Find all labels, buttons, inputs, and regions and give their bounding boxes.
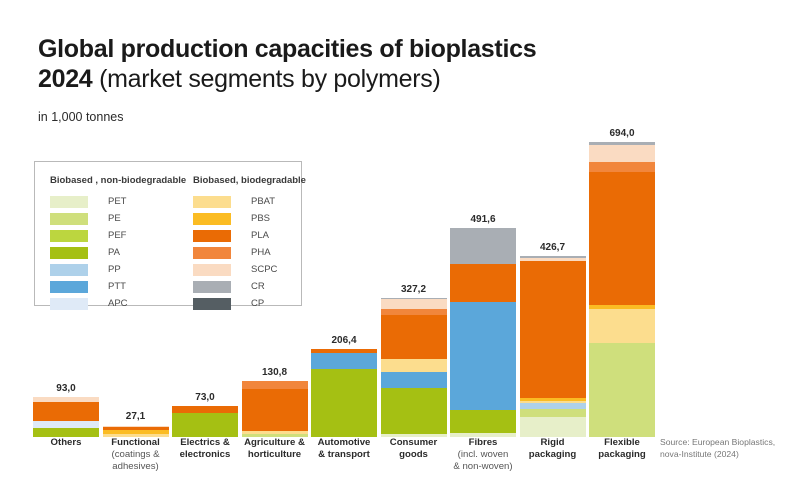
bar-value-label: 206,4 — [311, 335, 377, 346]
bar-segment-pe[interactable] — [589, 343, 655, 437]
bar-segment-pla[interactable] — [589, 172, 655, 305]
bar-value-label: 426,7 — [520, 242, 586, 253]
bar-segment-pet[interactable] — [520, 417, 586, 437]
bar-stack — [520, 256, 586, 437]
x-axis-label-main: Flexiblepackaging — [584, 437, 660, 461]
bar-stack — [33, 397, 99, 437]
bar-value-label: 130,8 — [242, 367, 308, 378]
x-axis-label: Electrics &electronics — [167, 437, 243, 461]
bar-stack — [242, 381, 308, 437]
bar-group[interactable]: 206,4 — [311, 331, 377, 437]
bar-stack — [381, 298, 447, 437]
bar-segment-ptt[interactable] — [450, 302, 516, 410]
bar-segment-pha[interactable] — [589, 162, 655, 172]
bar-group[interactable]: 27,1 — [103, 407, 169, 437]
x-axis-label-main: Others — [28, 437, 104, 449]
bar-segment-pa[interactable] — [172, 413, 238, 437]
x-axis-label: Rigidpackaging — [515, 437, 591, 461]
x-axis-label: Functional(coatings &adhesives) — [98, 437, 174, 473]
bar-group[interactable]: 130,8 — [242, 363, 308, 437]
bar-value-label: 694,0 — [589, 128, 655, 139]
x-axis-label-main: Fibres — [445, 437, 521, 449]
bar-segment-apc[interactable] — [33, 421, 99, 428]
x-axis-label: Fibres(incl. woven& non-woven) — [445, 437, 521, 473]
bar-value-label: 491,6 — [450, 214, 516, 225]
bar-stack — [450, 228, 516, 437]
bar-segment-pa[interactable] — [450, 410, 516, 433]
bar-segment-pa[interactable] — [33, 428, 99, 437]
bar-group[interactable]: 426,7 — [520, 238, 586, 437]
chart-plot-area: 93,027,173,0130,8206,4327,2491,6426,7694… — [0, 0, 800, 437]
bar-segment-cr[interactable] — [450, 228, 516, 264]
x-axis-label-main: Agriculture &horticulture — [237, 437, 313, 461]
bar-segment-scpc[interactable] — [381, 299, 447, 309]
bar-stack — [172, 406, 238, 437]
source-line-1: Source: European Bioplastics, — [660, 437, 795, 449]
x-axis-label-main: Consumergoods — [376, 437, 452, 461]
x-axis-label-sub: (incl. woven& non-woven) — [445, 449, 521, 473]
x-axis-label-main: Rigidpackaging — [515, 437, 591, 461]
bar-group[interactable]: 694,0 — [589, 124, 655, 437]
source-line-2: nova-Institute (2024) — [660, 449, 795, 461]
x-axis-label-main: Automotive& transport — [306, 437, 382, 461]
bar-segment-pla[interactable] — [242, 389, 308, 432]
bar-value-label: 73,0 — [172, 392, 238, 403]
x-axis-label-main: Electrics &electronics — [167, 437, 243, 461]
bar-segment-pla[interactable] — [450, 264, 516, 302]
bar-group[interactable]: 73,0 — [172, 388, 238, 437]
bar-group[interactable]: 491,6 — [450, 210, 516, 437]
bar-segment-pla[interactable] — [172, 406, 238, 413]
x-axis-label-main: Functional — [98, 437, 174, 449]
x-axis-label-sub: (coatings &adhesives) — [98, 449, 174, 473]
bar-segment-pa[interactable] — [381, 388, 447, 434]
bar-segment-ptt[interactable] — [381, 372, 447, 388]
bar-segment-pbat[interactable] — [589, 309, 655, 343]
bar-group[interactable]: 93,0 — [33, 379, 99, 437]
bar-stack — [589, 142, 655, 437]
bar-segment-pla[interactable] — [520, 261, 586, 398]
x-axis-label: Automotive& transport — [306, 437, 382, 461]
x-axis-label: Consumergoods — [376, 437, 452, 461]
bar-segment-scpc[interactable] — [589, 145, 655, 162]
bar-value-label: 93,0 — [33, 383, 99, 394]
bar-stack — [103, 425, 169, 437]
x-axis-label: Agriculture &horticulture — [237, 437, 313, 461]
bar-segment-pe[interactable] — [520, 409, 586, 416]
bar-value-label: 327,2 — [381, 284, 447, 295]
bar-segment-pla[interactable] — [381, 315, 447, 359]
x-axis-label: Others — [28, 437, 104, 449]
bar-stack — [311, 349, 377, 437]
bar-segment-pa[interactable] — [311, 369, 377, 437]
x-axis-label: Flexiblepackaging — [584, 437, 660, 461]
bar-segment-ptt[interactable] — [311, 353, 377, 369]
bar-segment-pbat[interactable] — [381, 359, 447, 372]
bar-segment-pha[interactable] — [242, 381, 308, 388]
chart-source-note: Source: European Bioplastics, nova-Insti… — [660, 437, 795, 460]
bar-group[interactable]: 327,2 — [381, 280, 447, 437]
bar-segment-pla[interactable] — [33, 402, 99, 421]
bar-value-label: 27,1 — [103, 411, 169, 422]
